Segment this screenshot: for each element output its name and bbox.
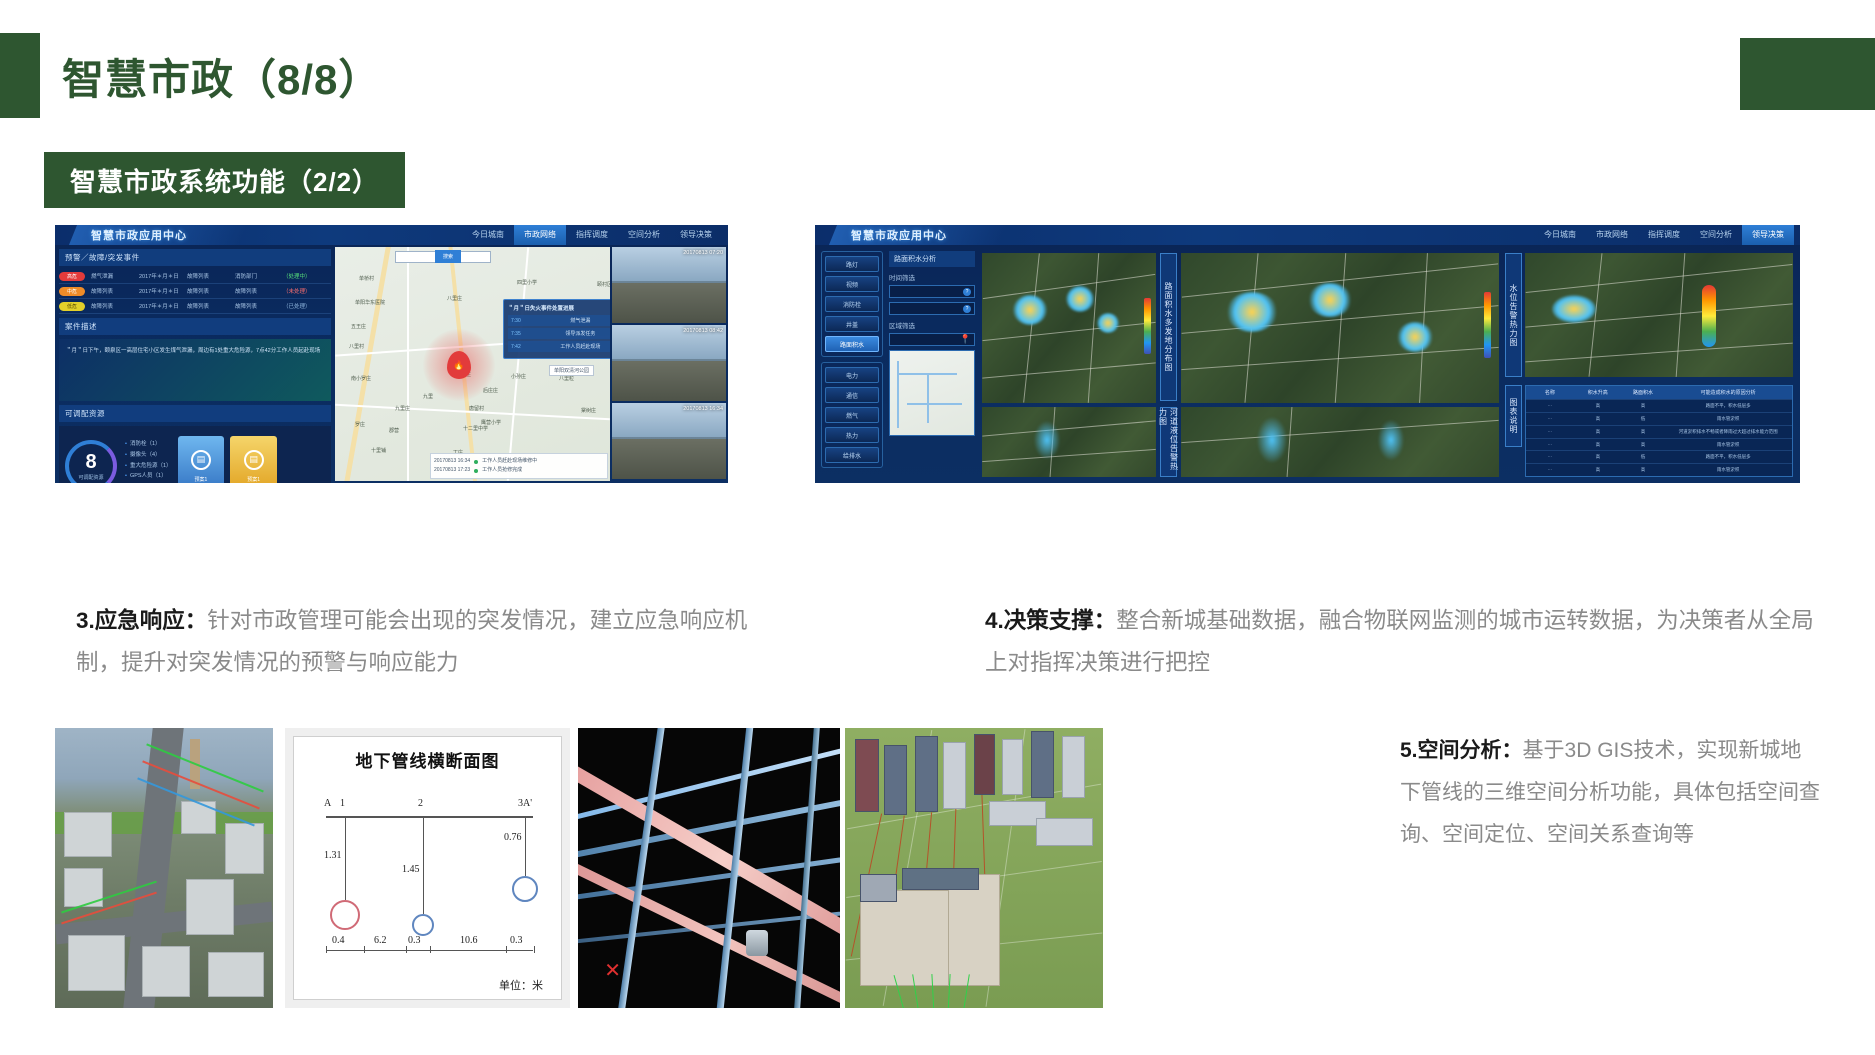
filter-time-input-2[interactable]: ? (889, 302, 975, 315)
fire-alarm-pin-icon[interactable]: 🔥 (447, 351, 471, 379)
cross-section-drawing: A 1 2 3A' 1.31 1.45 0.76 (294, 772, 561, 972)
dashboard1-nav-item-0[interactable]: 今日城南 (462, 225, 514, 245)
log-time: 20170813 16:34 (434, 457, 470, 466)
plan-card-2[interactable]: ▤ 预案1 (230, 436, 277, 483)
map-label: 郡营 (389, 427, 399, 434)
photo-underground-pipes-3d: ✕ (578, 728, 840, 1008)
list-item: 20170813 17:23 工作人员抢修完成 (434, 466, 604, 475)
case-panel-title: 案件描述 (59, 318, 331, 335)
case-description-text: ＂月＂日下午，颐泉区一高层住宅小区发生煤气泄漏，周边有1处重大危险源，7点42分… (59, 339, 331, 401)
popup-row-text: 领导派发任务 (565, 330, 595, 337)
resource-count-ring: 8 可调配资源 (65, 440, 117, 483)
event-type: 故障列表 (91, 302, 139, 310)
location-pin-icon: 📍 (960, 334, 971, 345)
resource-list: 消防栓（1） 摄像头（4） 重大危险源（1） GPS人员（1） 隐患设施（1） (125, 439, 172, 483)
cell-rise: 高 (1574, 439, 1622, 451)
dashboard1-app-title: 智慧市政应用中心 (91, 227, 187, 243)
sidebar-item-heat[interactable]: 热力 (825, 427, 879, 443)
table-row[interactable]: 低危 故障列表 2017年＊月＊日 故障列表 故障列表 （已处理） (59, 299, 331, 314)
dashboard-screenshot-decision: 智慧市政应用中心 今日城南 市政网络 指挥调度 空间分析 领导决策 路灯 视频 … (815, 225, 1800, 483)
map-label: 罗庄 (355, 421, 365, 428)
event-dept: 故障列表 (235, 287, 283, 295)
cell-level: 低 (1622, 451, 1665, 463)
dashboard2-nav-item-4[interactable]: 领导决策 (1742, 225, 1794, 245)
cell-name: ··· (1526, 413, 1574, 425)
satellite-map-river[interactable] (982, 407, 1156, 477)
map-label: 八里庄 (447, 295, 462, 302)
cell-reason: 雨水管淤积 (1664, 413, 1792, 425)
chart-label-table-legend: 图表说明 (1505, 385, 1522, 447)
camera-timestamp: 20170813 16:34 (683, 406, 723, 412)
slide-root: 智慧市政（8/8） 智慧市政系统功能（2/2） 智慧市政应用中心 今日城南 市政… (0, 0, 1875, 1055)
dashboard1-nav-item-2[interactable]: 指挥调度 (566, 225, 618, 245)
question-icon: ? (963, 305, 971, 313)
map-label: 四里小学 (517, 279, 537, 286)
drop-line-1 (345, 818, 346, 900)
node-label-3A: 3A' (518, 798, 532, 809)
event-dept: 故障列表 (235, 302, 283, 310)
table-row[interactable]: ··· 高 低 路面不平，积水低层多 (1526, 450, 1792, 463)
plan-card-1[interactable]: ▤ 预案1 (178, 436, 225, 483)
event-list: 故障列表 (187, 287, 235, 295)
map-label: 唐留村 (469, 405, 484, 412)
cell-level: 高 (1622, 400, 1665, 412)
map-label: 单阳华东医院 (355, 299, 385, 306)
log-text: 工作人员赶赴现场维修中 (482, 457, 537, 466)
cell-level: 高 (1622, 464, 1665, 476)
dashboard1-nav-item-3[interactable]: 空间分析 (618, 225, 670, 245)
cell-name: ··· (1526, 426, 1574, 438)
caption-decision-support: 4.决策支撑：整合新城基础数据，融合物联网监测的城市运转数据，为决策者从全局上对… (985, 600, 1815, 683)
camera-timestamp: 20170813 07:20 (683, 250, 723, 256)
list-item: 摄像头（4） (125, 450, 172, 461)
dashboard2-sidebar: 路灯 视频 消防栓 井盖 路面积水 电力 通信 燃气 热力 给排水 (821, 251, 883, 477)
cell-level: 高 (1622, 426, 1665, 438)
chart-label-water-level-heatmap: 水位告警热力图 (1505, 253, 1522, 377)
pipes-3d-render: ✕ (578, 728, 840, 1008)
resource-count-value: 8 (85, 452, 96, 472)
camera-road (612, 361, 726, 401)
sidebar-item-telecom[interactable]: 通信 (825, 387, 879, 403)
event-date: 2017年＊月＊日 (139, 272, 187, 280)
event-type: 燃气泄漏 (91, 272, 139, 280)
pipe-circle-2 (412, 914, 434, 936)
sidebar-item-streetlight[interactable]: 路灯 (825, 256, 879, 272)
cell-reason: 河道淤积排水不畅或者降雨过大超过排水能力范围 (1664, 426, 1792, 438)
filter-time-label: 时间筛选 (889, 272, 975, 282)
cell-name: ··· (1526, 439, 1574, 451)
cell-name: ··· (1526, 451, 1574, 463)
event-status: （处理中） (283, 272, 331, 280)
list-item: 消防栓（1） (125, 439, 172, 450)
event-date: 2017年＊月＊日 (139, 302, 187, 310)
drop-line-3 (525, 818, 526, 876)
document-icon: ▤ (191, 450, 211, 470)
list-item: 7:42 工作人员赶赴现场 ✓ (508, 341, 610, 352)
sidebar-item-gas[interactable]: 燃气 (825, 407, 879, 423)
cell-reason: 路面不平，积水低层多 (1664, 451, 1792, 463)
incident-popup-title: ＂月＂日失火事件处置进展 (508, 304, 610, 312)
section-subtitle-label: 智慧市政系统功能（2/2） (70, 162, 379, 199)
map-label: 颐村区政府 (597, 281, 610, 288)
table-row[interactable]: 高危 燃气泄漏 2017年＊月＊日 故障列表 消防部门 （处理中） (59, 269, 331, 284)
caption-5-label: 5.空间分析： (1400, 739, 1523, 762)
sidebar-item-video[interactable]: 视频 (825, 276, 879, 292)
cell-level: 低 (1622, 413, 1665, 425)
log-time: 20170813 17:23 (434, 466, 470, 475)
map-label: 棠树庄 (581, 407, 596, 414)
map-search-button[interactable]: 搜索 (435, 250, 461, 263)
filter-time-input[interactable]: ? (889, 285, 975, 298)
dashboard2-nav-item-2[interactable]: 指挥调度 (1638, 225, 1690, 245)
camera-road (612, 439, 726, 479)
map-park-chip[interactable]: 单阳双清河公园 (549, 365, 594, 376)
dashboard1-topbar: 智慧市政应用中心 今日城南 市政网络 指挥调度 空间分析 领导决策 (55, 225, 728, 245)
map-road (336, 247, 394, 481)
camera-feed[interactable]: 20170813 07:20 (612, 247, 726, 323)
city-3d-render (845, 728, 1103, 1008)
list-item: 重大危险源（1） (125, 461, 172, 472)
satellite-map-river-large[interactable] (1181, 407, 1499, 477)
sidebar-item-waterlogging[interactable]: 路面积水 (825, 336, 879, 352)
dashboard1-nav: 今日城南 市政网络 指挥调度 空间分析 领导决策 (462, 225, 722, 245)
severity-badge: 低危 (59, 302, 85, 311)
list-item: 7:35 领导派发任务 ✓ (508, 328, 610, 339)
header-accent-bar-right (1740, 38, 1875, 110)
photo-city-3d-gis (845, 728, 1103, 1008)
table-header-cell: 积水升高 (1574, 386, 1622, 399)
plan-card-2-label: 预案1 (247, 476, 260, 483)
cross-section-card: 地下管线横断面图 A 1 2 3A' 1.31 1.45 0.76 (293, 736, 562, 1000)
event-date: 2017年＊月＊日 (139, 287, 187, 295)
aerial-city-render (55, 728, 273, 1008)
cell-reason: 路面不平，积水低层多 (1664, 400, 1792, 412)
cell-name: ··· (1526, 464, 1574, 476)
dashboard2-app-title: 智慧市政应用中心 (851, 227, 947, 243)
camera-timestamp: 20170813 08:42 (683, 328, 723, 334)
table-row[interactable]: ··· 高 低 雨水管淤积 (1526, 412, 1792, 425)
node-label-2: 2 (418, 798, 423, 809)
cell-rise: 高 (1574, 400, 1622, 412)
dashboard2-nav: 今日城南 市政网络 指挥调度 空间分析 领导决策 (1534, 225, 1794, 245)
list-item: 隐患设施（1） (125, 482, 172, 483)
drop-line-2 (423, 818, 424, 914)
cell-reason: 雨水管淤积 (1664, 464, 1792, 476)
cross-section-title: 地下管线横断面图 (294, 747, 561, 772)
x-marker-icon: ✕ (604, 958, 621, 983)
dashboard1-nav-item-1[interactable]: 市政网络 (514, 225, 566, 245)
dashboard1-map[interactable]: 搜索 单桥村 四里小学 颐村区政府 单阳华东医院 八里庄 五王庄 八里村 南小罗… (335, 247, 610, 481)
log-text: 工作人员抢修完成 (482, 466, 522, 475)
table-header-cell: 可能造成积水的原因分析 (1664, 386, 1792, 399)
cell-rise: 高 (1574, 413, 1622, 425)
filter-area-label: 区域筛选 (889, 320, 975, 330)
dashboard1-nav-item-4[interactable]: 领导决策 (670, 225, 722, 245)
map-label: 八里村 (349, 343, 364, 350)
filter-mini-map[interactable] (889, 350, 975, 436)
map-label: 九里庄 (395, 405, 410, 412)
chart-label-river-heatmap: 河道液位告警热力图 (1160, 407, 1177, 477)
event-dept: 消防部门 (235, 272, 283, 280)
table-row[interactable]: ··· 高 高 雨水管淤积 (1526, 463, 1792, 476)
camera-feed[interactable]: 20170813 16:34 (612, 403, 726, 479)
cell-rise: 高 (1574, 426, 1622, 438)
cell-rise: 高 (1574, 451, 1622, 463)
node-label-A: A (324, 798, 331, 809)
event-type: 故障列表 (91, 287, 139, 295)
dashboard1-camera-column: 20170813 07:20 20170813 08:42 20170813 1… (612, 247, 726, 481)
event-status: （未处理） (283, 287, 331, 295)
dashboard2-filter-panel: 路面积水分析 时间筛选 ? ? 区域筛选 📍 (889, 251, 975, 477)
filter-panel-title: 路面积水分析 (889, 251, 975, 267)
map-label: 单桥村 (359, 275, 374, 282)
caption-4-label: 4.决策支撑： (985, 608, 1116, 633)
event-list: 故障列表 (187, 272, 235, 280)
sidebar-group-facilities: 路灯 视频 消防栓 井盖 路面积水 (821, 251, 883, 357)
camera-feed[interactable]: 20170813 08:42 (612, 325, 726, 401)
list-item: GPS人员（1） (125, 471, 172, 482)
map-label: 八里粒 (559, 375, 574, 382)
map-label: 五王庄 (351, 323, 366, 330)
incident-log-card: 20170813 16:34 工作人员赶赴现场维修中 20170813 17:2… (430, 453, 608, 479)
cell-level: 高 (1622, 439, 1665, 451)
plan-card-1-label: 预案1 (195, 476, 208, 483)
sidebar-item-hydrant[interactable]: 消防栓 (825, 296, 879, 312)
map-label: 南小罗庄 (351, 375, 371, 382)
incident-popup[interactable]: ＂月＂日失火事件处置进展 7:30 燃气泄漏 ✓ 7:35 领导派发任务 ✓ 7… (503, 299, 610, 359)
satellite-map-waterlogging-large[interactable] (1181, 253, 1499, 403)
event-list: 故障列表 (187, 302, 235, 310)
sidebar-item-power[interactable]: 电力 (825, 367, 879, 383)
camera-road (612, 283, 726, 323)
distance-label-5: 0.3 (510, 935, 523, 946)
table-row[interactable]: ··· 高 高 路面不平，积水低层多 (1526, 399, 1792, 412)
cell-rise: 高 (1574, 464, 1622, 476)
pipe-circle-1 (330, 900, 360, 930)
depth-label-3: 0.76 (504, 832, 522, 843)
popup-row-time: 7:35 (511, 331, 521, 337)
map-label: 十二里中学 (463, 425, 488, 432)
resource-panel: 8 可调配资源 消防栓（1） 摄像头（4） 重大危险源（1） GPS人员（1） … (59, 426, 331, 483)
dashboard2-nav-item-3[interactable]: 空间分析 (1690, 225, 1742, 245)
dashboard2-nav-item-0[interactable]: 今日城南 (1534, 225, 1586, 245)
resource-panel-title: 可调配资源 (59, 405, 331, 422)
sidebar-item-watersupply[interactable]: 给排水 (825, 447, 879, 463)
list-item: 7:30 燃气泄漏 ✓ (508, 315, 610, 326)
popup-row-time: 7:42 (511, 344, 521, 350)
pipe-circle-3 (512, 876, 538, 902)
severity-badge: 中危 (59, 287, 85, 296)
distance-label-2: 6.2 (374, 935, 387, 946)
document-icon: ▤ (244, 450, 264, 470)
cell-name: ··· (1526, 400, 1574, 412)
depth-label-1: 1.31 (324, 850, 342, 861)
table-row[interactable]: ··· 高 高 雨水管淤积 (1526, 438, 1792, 451)
analysis-table: 名称 积水升高 路面积水 可能造成积水的原因分析 ··· 高 高 路面不平，积水… (1525, 385, 1793, 477)
section-subtitle: 智慧市政系统功能（2/2） (44, 152, 405, 208)
dashboard-screenshot-emergency: 智慧市政应用中心 今日城南 市政网络 指挥调度 空间分析 领导决策 预警／故障/… (55, 225, 728, 483)
table-header-row: 名称 积水升高 路面积水 可能造成积水的原因分析 (1526, 386, 1792, 399)
popup-row-text: 工作人员赶赴现场 (560, 343, 600, 350)
status-dot-icon (474, 469, 478, 473)
map-label: 小孙庄 (511, 373, 526, 380)
question-icon: ? (963, 288, 971, 296)
satellite-map-water-level[interactable] (1525, 253, 1793, 377)
satellite-map-waterlogging[interactable] (982, 253, 1156, 403)
distance-label-1: 0.4 (332, 935, 345, 946)
caption-3-label: 3.应急响应： (76, 608, 207, 633)
distance-label-3: 0.3 (408, 935, 421, 946)
popup-row-time: 7:30 (511, 318, 521, 324)
node-label-1: 1 (340, 798, 345, 809)
event-status: （已处理） (283, 302, 331, 310)
distance-label-4: 10.6 (460, 935, 478, 946)
map-label: 九里 (423, 393, 433, 400)
dashboard1-left-panel: 预警／故障/突发事件 高危 燃气泄漏 2017年＊月＊日 故障列表 消防部门 （… (59, 249, 331, 479)
table-row[interactable]: ··· 高 高 河道淤积排水不畅或者降雨过大超过排水能力范围 (1526, 425, 1792, 438)
dashboard2-topbar: 智慧市政应用中心 今日城南 市政网络 指挥调度 空间分析 领导决策 (815, 225, 1800, 245)
events-table: 高危 燃气泄漏 2017年＊月＊日 故障列表 消防部门 （处理中） 中危 故障列… (59, 269, 331, 314)
sidebar-item-manhole[interactable]: 井盖 (825, 316, 879, 332)
sidebar-group-utilities: 电力 通信 燃气 热力 给排水 (821, 362, 883, 468)
ground-line (326, 816, 533, 818)
photo-aerial-city-pipeline (55, 728, 273, 1008)
diagram-pipeline-cross-section: 地下管线横断面图 A 1 2 3A' 1.31 1.45 0.76 (285, 728, 570, 1008)
resource-count-label: 可调配资源 (78, 474, 103, 481)
popup-row-text: 燃气泄漏 (570, 317, 590, 324)
table-header-cell: 路面积水 (1622, 386, 1665, 399)
list-item: 20170813 16:34 工作人员赶赴现场维修中 (434, 457, 604, 466)
table-header-cell: 名称 (1526, 386, 1574, 399)
page-title: 智慧市政（8/8） (62, 46, 381, 107)
depth-label-2: 1.45 (402, 864, 420, 875)
caption-spatial-analysis: 5.空间分析：基于3D GIS技术，实现新城地下管线的三维空间分析功能，具体包括… (1400, 730, 1820, 856)
events-panel-title: 预警／故障/突发事件 (59, 249, 331, 266)
unit-label: 单位：米 (499, 977, 543, 993)
severity-badge: 高危 (59, 272, 85, 281)
cell-reason: 雨水管淤积 (1664, 439, 1792, 451)
header-accent-bar-left (0, 33, 40, 118)
caption-emergency-response: 3.应急响应：针对市政管理可能会出现的突发情况，建立应急响应机制，提升对突发情况… (76, 600, 776, 683)
filter-area-input[interactable]: 📍 (889, 333, 975, 346)
dashboard2-nav-item-1[interactable]: 市政网络 (1586, 225, 1638, 245)
chart-label-waterlogging-map: 路面积水多发地分布图 (1160, 253, 1177, 401)
map-label: 十里铺 (371, 447, 386, 454)
status-dot-icon (474, 460, 478, 464)
table-row[interactable]: 中危 故障列表 2017年＊月＊日 故障列表 故障列表 （未处理） (59, 284, 331, 299)
map-road (407, 247, 409, 481)
